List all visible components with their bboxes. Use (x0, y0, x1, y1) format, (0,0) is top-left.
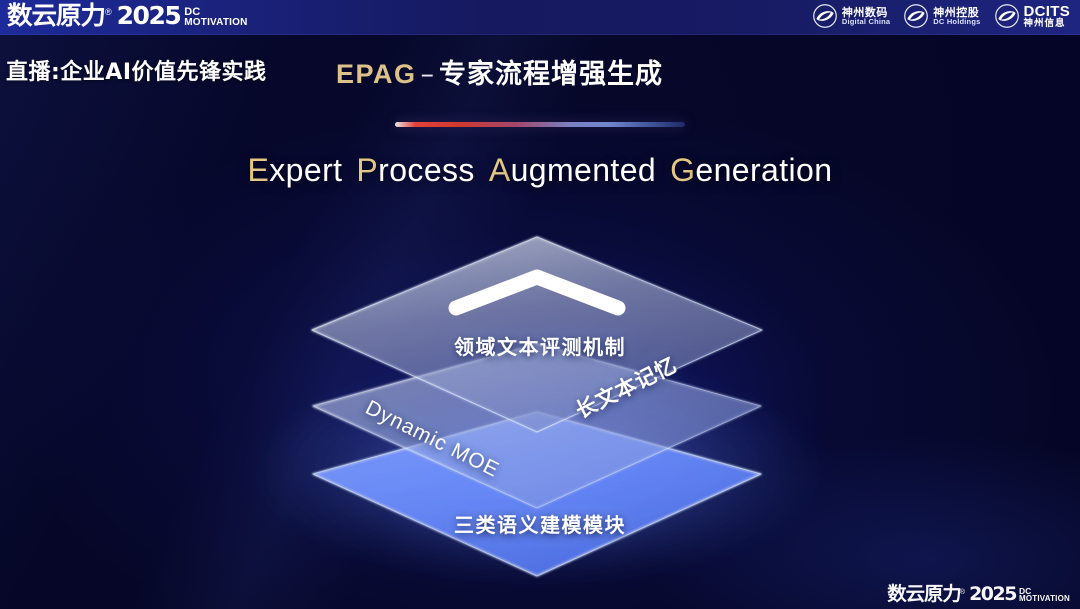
swirl-logo-icon (904, 4, 928, 28)
live-session-title: 直播:企业AI价值先锋实践 (6, 54, 267, 86)
title-dash: – (417, 59, 440, 90)
bottom-plate-shape (313, 412, 761, 576)
brand-dc-text: DC (184, 7, 247, 17)
subtitle-initial: P (356, 152, 378, 188)
swirl-logo-icon (813, 4, 837, 28)
top-layer-label: 领域文本评测机制 (0, 331, 1080, 360)
stack-layer-middle (313, 344, 761, 508)
subtitle-word: Process (356, 152, 474, 188)
middle-plate-edge (313, 344, 761, 508)
gradient-divider (395, 122, 685, 127)
footer-watermark-logo: 数云原力®2025 DC MOTIVATION (888, 585, 1070, 604)
brand-year: 2025 (117, 3, 181, 28)
title-chinese: 专家流程增强生成 (439, 59, 663, 90)
subtitle-initial: E (248, 152, 270, 188)
layered-stack-diagram: 领域文本评测机制 Dynamic MOE 长文本记忆 三类语义建模模块 (0, 0, 1080, 609)
subtitle-remainder: eneration (695, 152, 832, 188)
stack-ambient-glow (247, 355, 827, 585)
watermark-motivation-text: MOTIVATION (1019, 595, 1070, 603)
top-plate-shape (312, 237, 762, 432)
partner-name-cn: 神州信息 (1024, 19, 1071, 29)
top-plate-edge (312, 237, 762, 432)
partner-name-en: DC Holdings (933, 18, 980, 26)
brand-dc-motivation: DC MOTIVATION (184, 7, 247, 27)
watermark-name-cn: 数云原力 (887, 585, 960, 604)
subtitle-expansion: ExpertProcessAugmentedGeneration (0, 152, 1080, 189)
slide-canvas: 数云原力®2025 DC MOTIVATION 神州数码 Digital Chi… (0, 0, 1080, 609)
middle-plate-shape (313, 344, 761, 508)
watermark-registered-mark: ® (960, 589, 965, 596)
brand-logo: 数云原力®2025 DC MOTIVATION (8, 3, 248, 28)
top-bar: 数云原力®2025 DC MOTIVATION 神州数码 Digital Chi… (0, 0, 1080, 35)
partner-logos: 神州数码 Digital China 神州控股 DC Holdings (813, 4, 1070, 29)
partner-logo-dc-holdings: 神州控股 DC Holdings (904, 4, 980, 28)
page-title: EPAG–专家流程增强生成 (336, 52, 663, 91)
stack-svg (0, 0, 1080, 609)
partner-text: DCITS 神州信息 (1024, 4, 1071, 29)
swirl-logo-icon (995, 4, 1019, 28)
partner-logo-dcits: DCITS 神州信息 (995, 4, 1071, 29)
bottom-layer-label: 三类语义建模模块 (0, 509, 1080, 538)
brand-motivation-text: MOTIVATION (184, 18, 247, 28)
subtitle-initial: G (670, 152, 695, 188)
subtitle-word: Expert (248, 152, 343, 188)
brand-registered-mark: ® (105, 7, 112, 17)
subtitle-initial: A (489, 152, 511, 188)
subtitle-remainder: rocess (378, 152, 475, 188)
subtitle-remainder: ugmented (511, 152, 657, 188)
stack-layer-bottom (313, 412, 761, 576)
bottom-plate-edge (313, 412, 761, 576)
chevron-up-icon (456, 277, 618, 308)
partner-text: 神州数码 Digital China (842, 7, 890, 26)
middle-layer-label-right: 长文本记忆 (570, 349, 682, 425)
title-acronym: EPAG (336, 59, 417, 89)
partner-logo-digital-china: 神州数码 Digital China (813, 4, 890, 28)
partner-text: 神州控股 DC Holdings (933, 7, 980, 26)
brand-name-cn: 数云原力 (7, 3, 105, 28)
subtitle-word: Augmented (489, 152, 656, 188)
subtitle-word: Generation (670, 152, 832, 188)
watermark-dc-motivation: DC MOTIVATION (1019, 587, 1070, 603)
partner-name-en: Digital China (842, 18, 890, 26)
watermark-year: 2025 (969, 585, 1016, 604)
subtitle-remainder: xpert (269, 152, 342, 188)
middle-layer-label-left: Dynamic MOE (361, 396, 503, 483)
stack-layer-top (312, 237, 762, 432)
partner-name-en: DCITS (1024, 4, 1071, 19)
